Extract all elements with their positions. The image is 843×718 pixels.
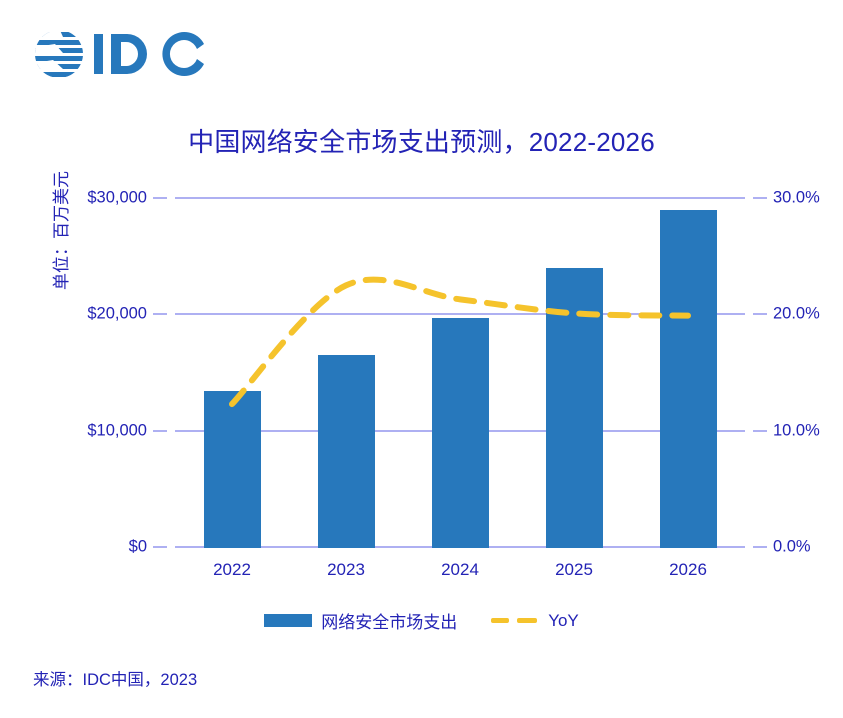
y2-tick-mark-0 <box>753 546 767 548</box>
y-axis-label-30000: $30,000 <box>87 189 147 208</box>
y-tick-mark-20000 <box>153 313 167 315</box>
y-axis-label-0: $0 <box>129 538 147 557</box>
legend-swatch-bar-icon <box>264 614 312 627</box>
x-axis-label-2025: 2025 <box>529 560 619 580</box>
x-axis-label-2026: 2026 <box>643 560 733 580</box>
y2-axis-label-30: 30.0% <box>773 189 820 208</box>
y-tick-mark-10000 <box>153 430 167 432</box>
y2-axis-label-10: 10.0% <box>773 422 820 441</box>
y2-axis-label-20: 20.0% <box>773 305 820 324</box>
x-axis-label-2023: 2023 <box>301 560 391 580</box>
y2-tick-mark-30 <box>753 197 767 199</box>
y2-axis-label-0: 0.0% <box>773 538 811 557</box>
y-axis-label-20000: $20,000 <box>87 305 147 324</box>
source-note: 来源：IDC中国，2023 <box>33 666 197 690</box>
y2-tick-mark-10 <box>753 430 767 432</box>
x-axis-label-2022: 2022 <box>187 560 277 580</box>
y-axis-label-10000: $10,000 <box>87 422 147 441</box>
legend-item-bar[interactable]: 网络安全市场支出 <box>264 608 457 633</box>
legend-label-bar: 网络安全市场支出 <box>321 608 457 633</box>
legend-item-line[interactable]: YoY <box>491 611 579 631</box>
yoy-dashed-path <box>232 280 688 405</box>
y-tick-mark-0 <box>153 546 167 548</box>
legend-swatch-dashed-line-icon <box>491 614 539 627</box>
legend-label-line: YoY <box>548 611 579 631</box>
y2-tick-mark-20 <box>753 313 767 315</box>
y-axis-title: 单位：百万美元 <box>47 171 72 290</box>
chart-legend: 网络安全市场支出 YoY <box>0 608 843 633</box>
plot-area: $0 $10,000 $20,000 $30,000 0.0% 10.0% 20… <box>175 197 745 548</box>
y-tick-mark-30000 <box>153 197 167 199</box>
yoy-line-series <box>175 197 745 548</box>
x-axis-label-2024: 2024 <box>415 560 505 580</box>
